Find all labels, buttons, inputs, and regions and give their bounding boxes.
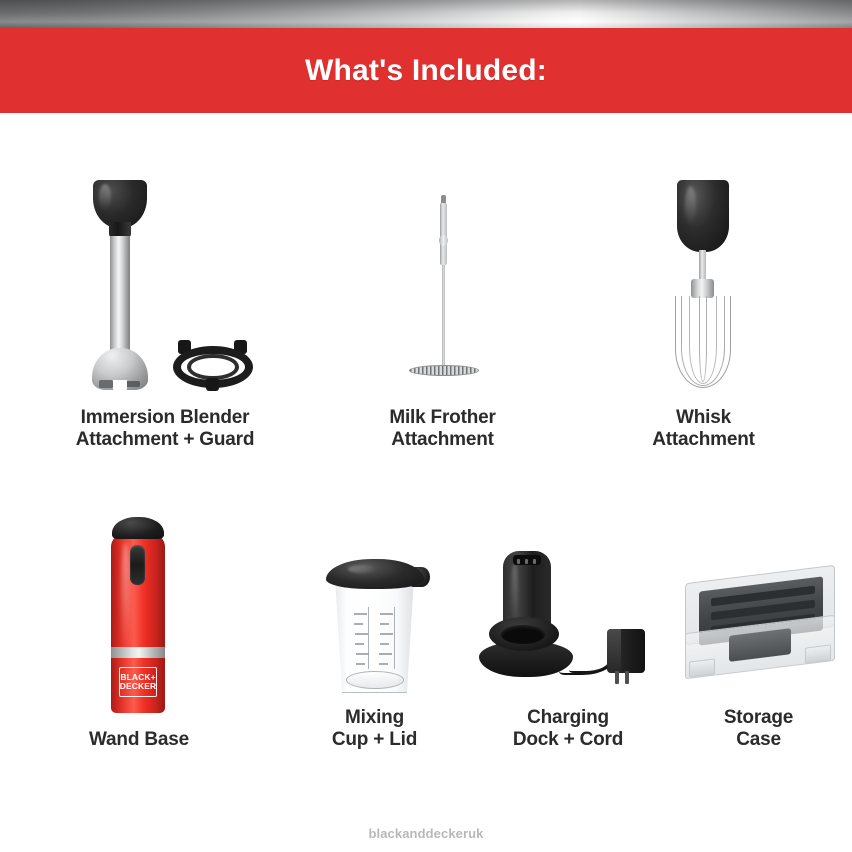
adapter-prong <box>625 671 629 684</box>
wand-base-icon: BLACK+ DECKER <box>84 517 194 717</box>
whisk-attachment-icon <box>639 175 769 395</box>
whisk-cap <box>677 180 729 252</box>
site-watermark: blackanddeckeruk <box>0 826 852 841</box>
product-label: Charging Dock + Cord <box>513 707 623 750</box>
blackdecker-logo-badge: BLACK+ DECKER <box>119 667 157 697</box>
product-label: Milk Frother Attachment <box>389 407 495 450</box>
mixing-cup-lid-icon <box>310 495 440 695</box>
product-row-top: Immersion Blender Attachment + Guard Mil… <box>0 150 852 450</box>
blender-guard-ring <box>173 340 253 392</box>
product-item-mixing-cup: Mixing Cup + Lid <box>278 480 471 750</box>
blender-cone <box>93 180 147 228</box>
frother-coil-disc <box>409 365 479 376</box>
immersion-blender-attachment-icon <box>65 175 265 395</box>
metallic-top-strip <box>0 0 852 28</box>
storage-case-icon <box>671 495 846 695</box>
page-title: What's Included: <box>305 54 547 88</box>
blender-bell-notch <box>113 380 127 392</box>
whats-included-banner: What's Included: <box>0 28 852 113</box>
product-label: Storage Case <box>724 707 793 750</box>
wand-power-switch <box>130 545 145 585</box>
frother-rod <box>442 265 445 369</box>
blender-shaft <box>110 236 130 354</box>
product-item-charging-dock: Charging Dock + Cord <box>471 480 665 750</box>
product-item-storage-case: Storage Case <box>665 480 852 750</box>
product-included-infographic: What's Included: <box>0 0 852 852</box>
product-item-whisk: Whisk Attachment <box>555 150 852 450</box>
product-item-wand-base: BLACK+ DECKER Wand Base <box>0 480 278 750</box>
product-label: Whisk Attachment <box>652 407 755 450</box>
product-item-immersion-blender: Immersion Blender Attachment + Guard <box>0 150 330 450</box>
dock-contact-pins <box>517 559 537 564</box>
adapter-face <box>607 629 621 673</box>
milk-frother-attachment-icon <box>383 175 503 395</box>
charging-dock-cord-icon <box>473 495 663 695</box>
product-label: Immersion Blender Attachment + Guard <box>76 407 255 450</box>
frother-upper-rod <box>440 203 447 265</box>
wand-silver-band <box>111 647 165 658</box>
frother-collar <box>439 235 448 246</box>
product-row-bottom: BLACK+ DECKER Wand Base <box>0 480 852 750</box>
whisk-wire <box>699 296 707 382</box>
guard-tab <box>206 378 219 391</box>
whisk-balloon-wires <box>675 296 731 388</box>
product-item-milk-frother: Milk Frother Attachment <box>330 150 555 450</box>
brand-line-2: DECKER <box>120 682 157 691</box>
adapter-prong <box>615 671 619 684</box>
cup-lid <box>326 559 424 589</box>
product-label: Wand Base <box>89 729 189 750</box>
product-label: Mixing Cup + Lid <box>332 707 417 750</box>
wand-top-cap <box>112 517 164 539</box>
whisk-stem <box>699 250 706 282</box>
